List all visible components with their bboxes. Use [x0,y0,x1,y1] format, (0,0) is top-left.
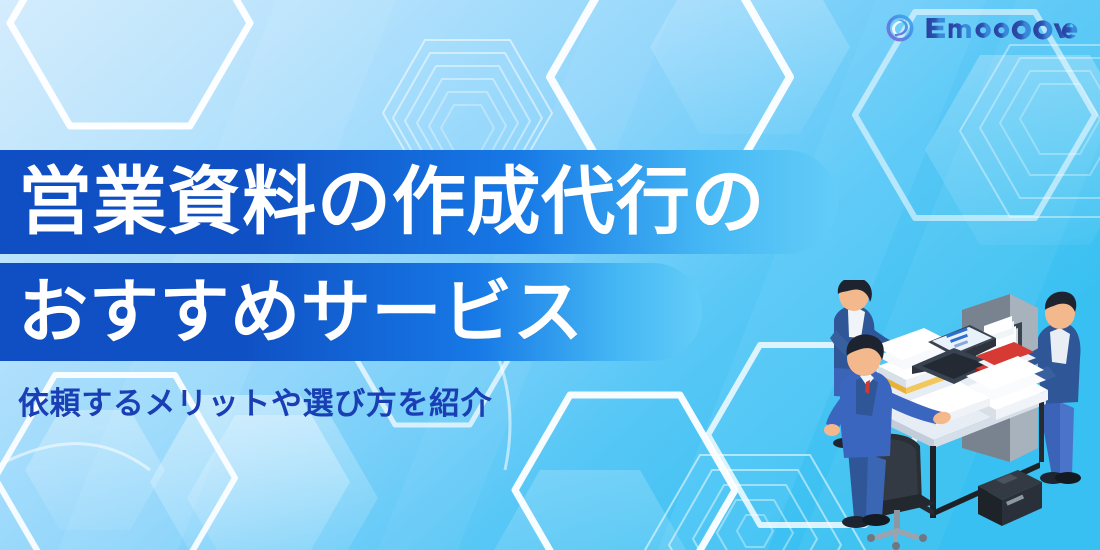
brand-logo[interactable] [884,12,1078,44]
emooove-wordmark [925,15,1078,41]
office-illustration [810,280,1100,550]
emooove-swirl-icon [884,12,916,44]
title-line2: おすすめサービス [0,277,584,347]
title-line1: 営業資料の作成代行の [0,165,765,239]
title-band-line1: 営業資料の作成代行の [0,150,838,254]
hero-banner: 営業資料の作成代行の おすすめサービス 依頼するメリットや選び方を紹介 [0,0,1100,550]
title-band-line2: おすすめサービス [0,263,702,361]
subtitle: 依頼するメリットや選び方を紹介 [18,378,492,423]
